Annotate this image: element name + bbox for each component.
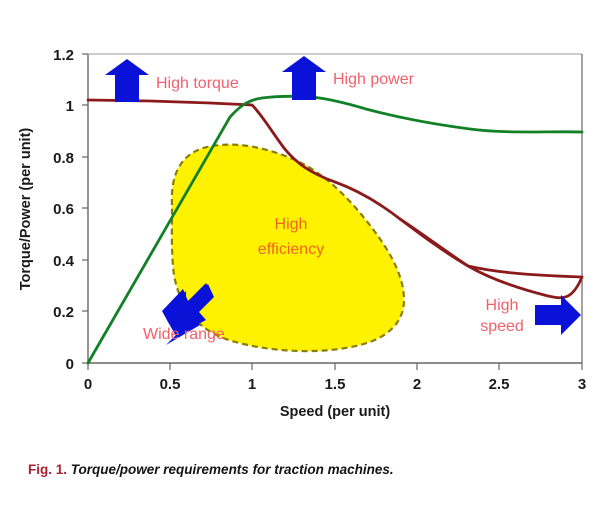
x-tick-label-0.5: 0.5 [160,376,181,393]
x-tick-label-0: 0 [84,376,92,393]
y-tick-label-0.8: 0.8 [53,150,74,167]
x-tick-label-3: 3 [578,376,586,393]
wide-range-label: Wide range [143,326,225,343]
y-tick-label-0.6: 0.6 [53,201,74,218]
x-tick-label-1: 1 [248,376,256,393]
caption-text: Torque/power requirements for traction m… [71,462,394,477]
x-tick-label-2.5: 2.5 [489,376,510,393]
y-tick-label-0.2: 0.2 [53,304,74,321]
high-power-label: High power [333,71,415,88]
x-axis-title: Speed (per unit) [280,404,391,420]
high-efficiency-label-line1: High [275,216,308,233]
high-speed-label-line2: speed [480,318,524,335]
caption-figure-number: Fig. 1. [28,462,67,477]
high-torque-label: High torque [156,75,239,92]
figure-page: 1.2 1 0.8 0.6 0.4 0.2 0 Torque/Power (pe… [0,0,600,506]
figure-caption: Fig. 1. Torque/power requirements for tr… [28,462,584,478]
x-tick-label-1.5: 1.5 [325,376,346,393]
torque-power-chart: 1.2 1 0.8 0.6 0.4 0.2 0 Torque/Power (pe… [0,0,600,430]
high-efficiency-label-line2: efficiency [258,241,324,258]
high-speed-label-line1: High [486,297,519,314]
y-tick-label-0.4: 0.4 [53,253,75,270]
y-tick-label-1.2: 1.2 [53,47,74,64]
y-tick-label-0: 0 [66,356,74,373]
x-tick-label-2: 2 [413,376,421,393]
y-tick-label-1.0: 1 [66,98,74,115]
y-axis-title: Torque/Power (per unit) [18,128,34,291]
